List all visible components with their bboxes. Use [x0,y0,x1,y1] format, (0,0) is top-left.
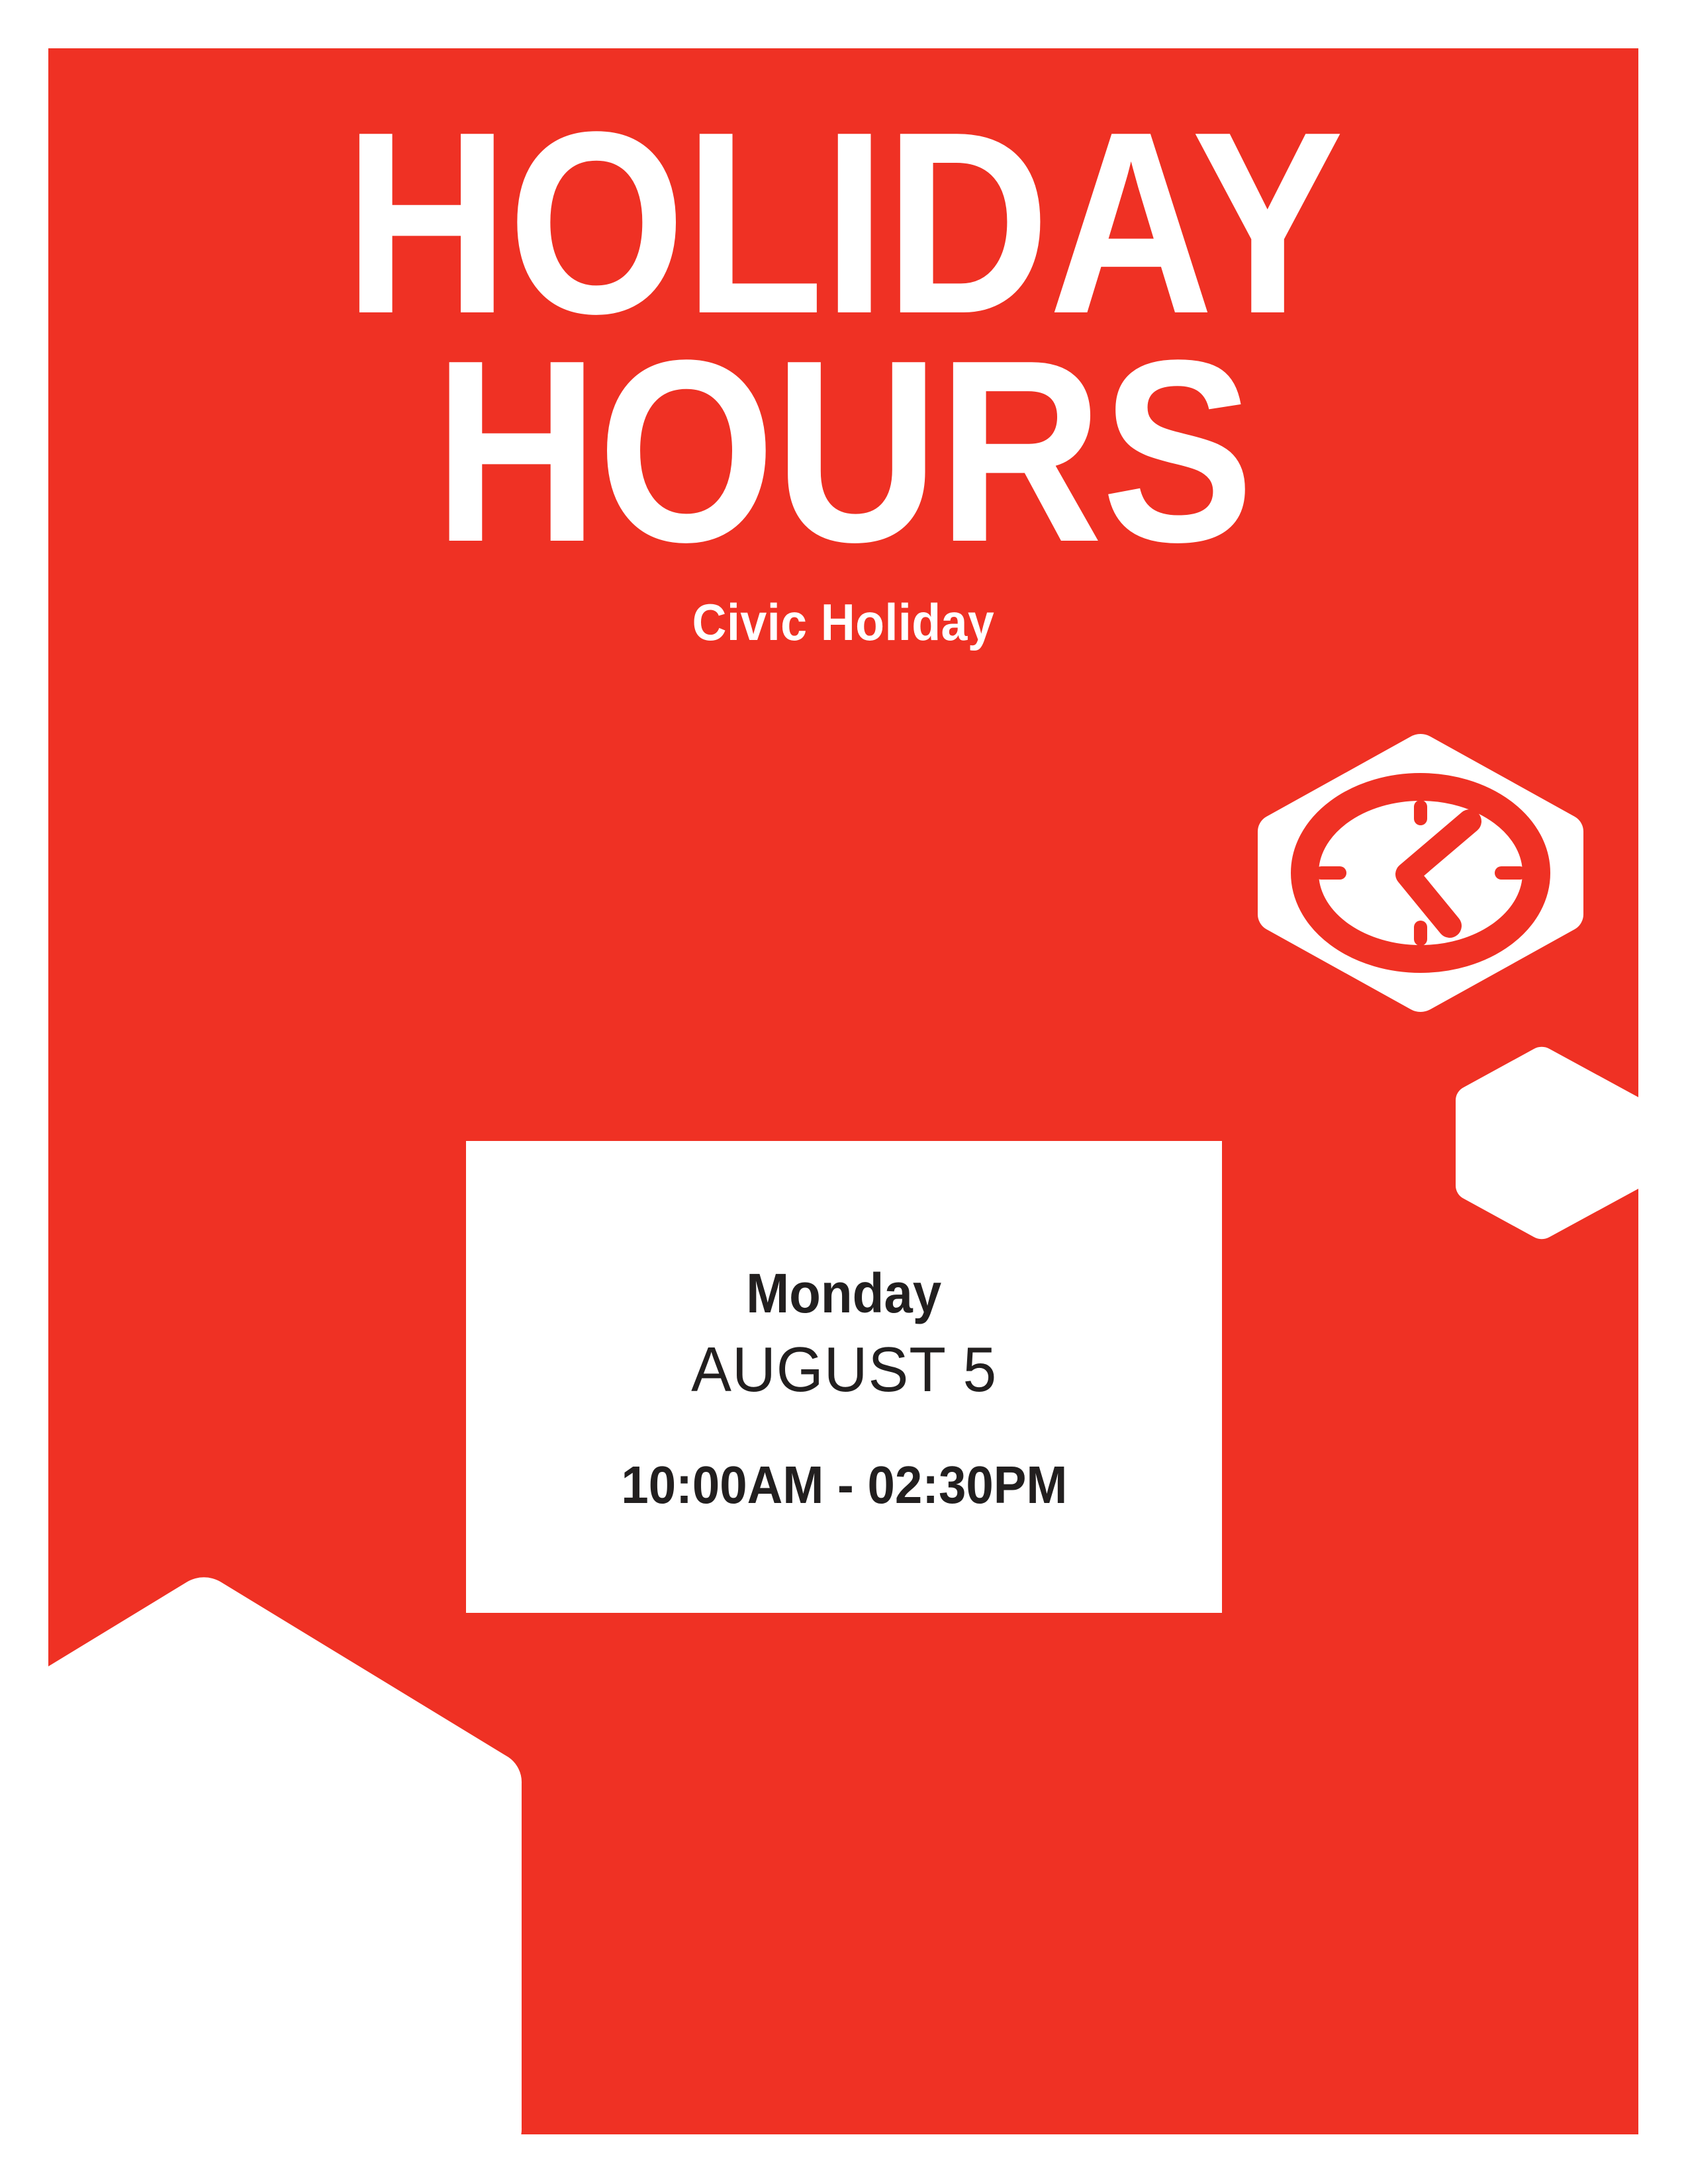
page-title-line-1: HOLIDAY [144,109,1543,338]
card-day-label: Monday [746,1265,941,1321]
small-hexagon-shape [1444,1044,1638,1242]
card-time-range-label: 10:00AM - 02:30PM [621,1459,1067,1512]
poster-subtitle: Civic Holiday [112,596,1575,648]
corner-hexagon-shape [48,1559,525,2134]
poster-headline-block: HOLIDAY HOURS Civic Holiday [48,48,1638,648]
clock-icon [1251,731,1590,1015]
poster-page: HOLIDAY HOURS Civic Holiday Monday AUGUS… [0,0,1688,2184]
card-date-label: AUGUST 5 [691,1338,997,1402]
holiday-info-card: Monday AUGUST 5 10:00AM - 02:30PM [466,1141,1222,1613]
poster-red-panel: HOLIDAY HOURS Civic Holiday Monday AUGUS… [48,48,1638,2134]
page-title-line-2: HOURS [144,338,1543,566]
